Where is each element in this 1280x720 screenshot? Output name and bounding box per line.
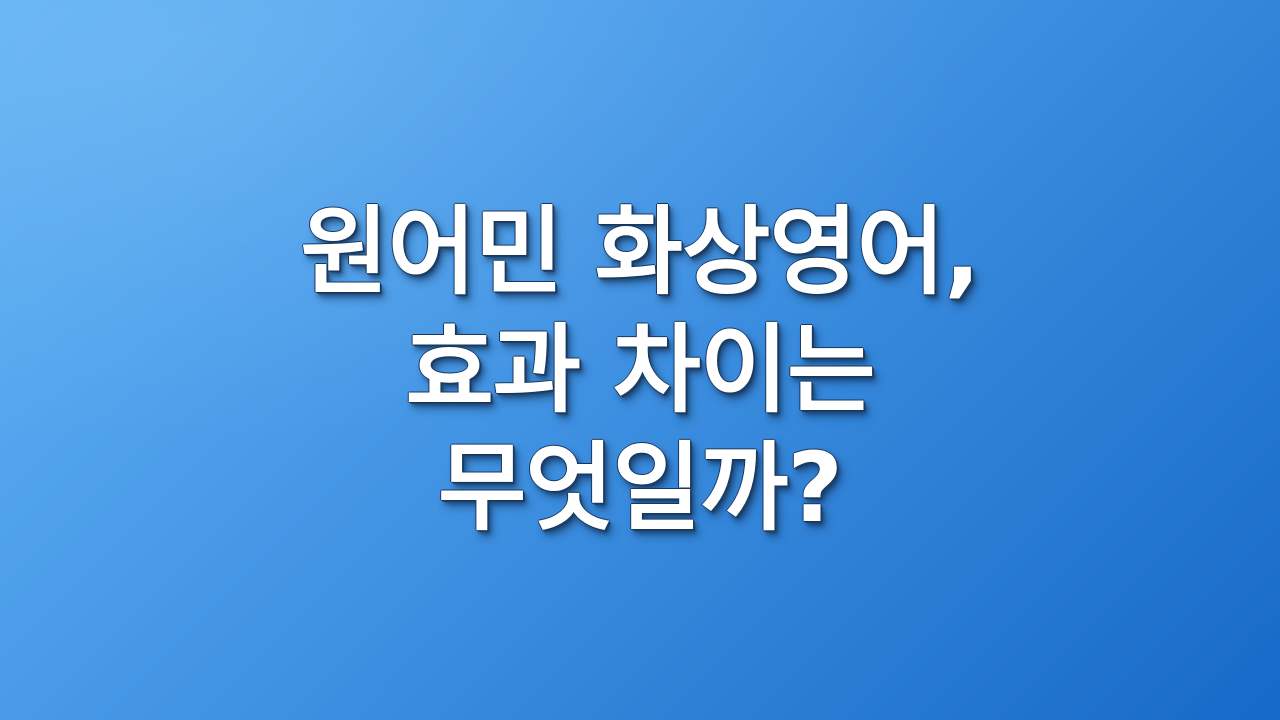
title-card: 원어민 화상영어, 효과 차이는 무엇일까? bbox=[0, 0, 1280, 720]
headline-line-2: 효과 차이는 bbox=[405, 311, 874, 429]
headline-line-3: 무엇일까? bbox=[438, 429, 842, 547]
headline-line-1: 원어민 화상영어, bbox=[300, 193, 979, 311]
headline-block: 원어민 화상영어, 효과 차이는 무엇일까? bbox=[0, 193, 1280, 547]
